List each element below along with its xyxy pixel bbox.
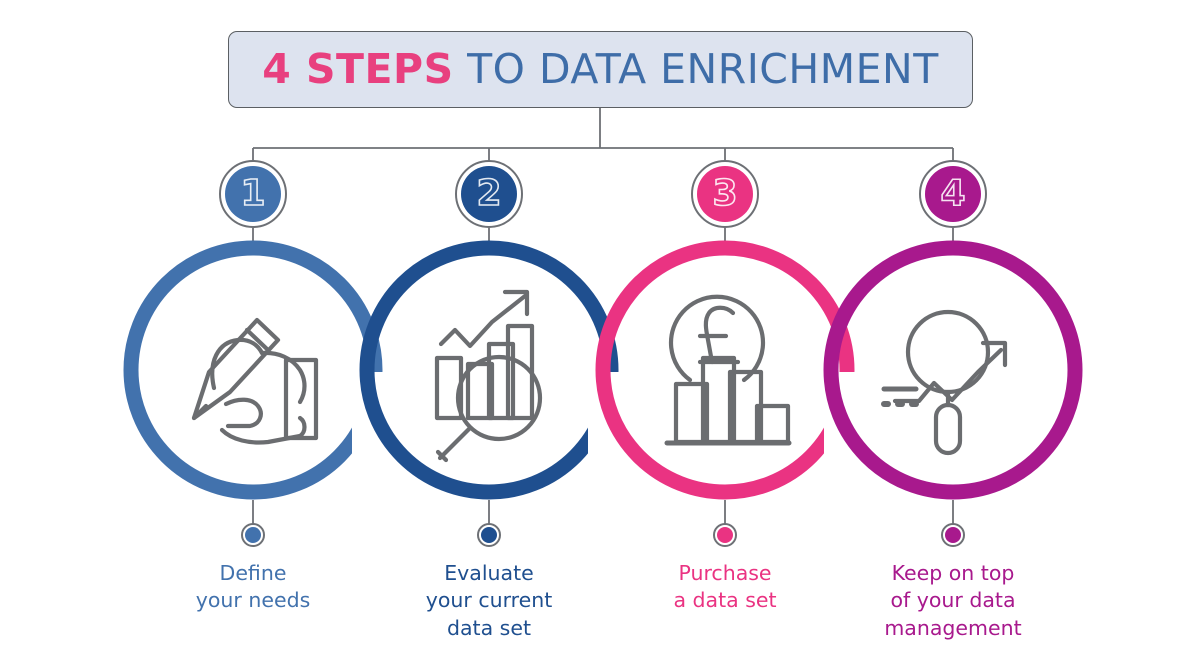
step-caption-4: Keep on top of your data management [823, 560, 1083, 642]
ring-step-3 [603, 248, 847, 492]
step-badge-4-number: 4 [940, 176, 965, 212]
step-caption-2: Evaluate your current data set [359, 560, 619, 642]
bar-chart-magnifier-icon [437, 292, 540, 460]
step-dot-1 [241, 523, 265, 547]
step-rings [131, 248, 1075, 492]
step-dot-4-fill [945, 527, 961, 543]
ring-step-4 [831, 248, 1075, 492]
step-caption-3: Purchase a data set [595, 560, 855, 615]
step-dot-3 [713, 523, 737, 547]
step-badge-2-number: 2 [476, 176, 501, 212]
step-badge-1-fill: 1 [225, 166, 281, 222]
step-dot-1-fill [245, 527, 261, 543]
step-badge-1[interactable]: 1 [219, 160, 287, 228]
step-badge-2-fill: 2 [461, 166, 517, 222]
step-badge-1-number: 1 [240, 176, 265, 212]
step-dot-4 [941, 523, 965, 547]
step-badge-3[interactable]: 3 [691, 160, 759, 228]
magnifier-trend-icon [884, 312, 1005, 453]
connector-tree [253, 108, 953, 166]
step-badge-3-fill: 3 [697, 166, 753, 222]
step-dot-2-fill [481, 527, 497, 543]
step-badge-4[interactable]: 4 [919, 160, 987, 228]
step-dot-2 [477, 523, 501, 547]
pound-bar-chart-icon [667, 297, 789, 443]
hand-pencil-icon [194, 320, 316, 443]
step-badge-2[interactable]: 2 [455, 160, 523, 228]
step-caption-1: Define your needs [123, 560, 383, 615]
step-badge-4-fill: 4 [925, 166, 981, 222]
step-dot-3-fill [717, 527, 733, 543]
infographic-canvas: 4 STEPS TO DATA ENRICHMENT [0, 0, 1200, 658]
step-badge-3-number: 3 [712, 176, 737, 212]
